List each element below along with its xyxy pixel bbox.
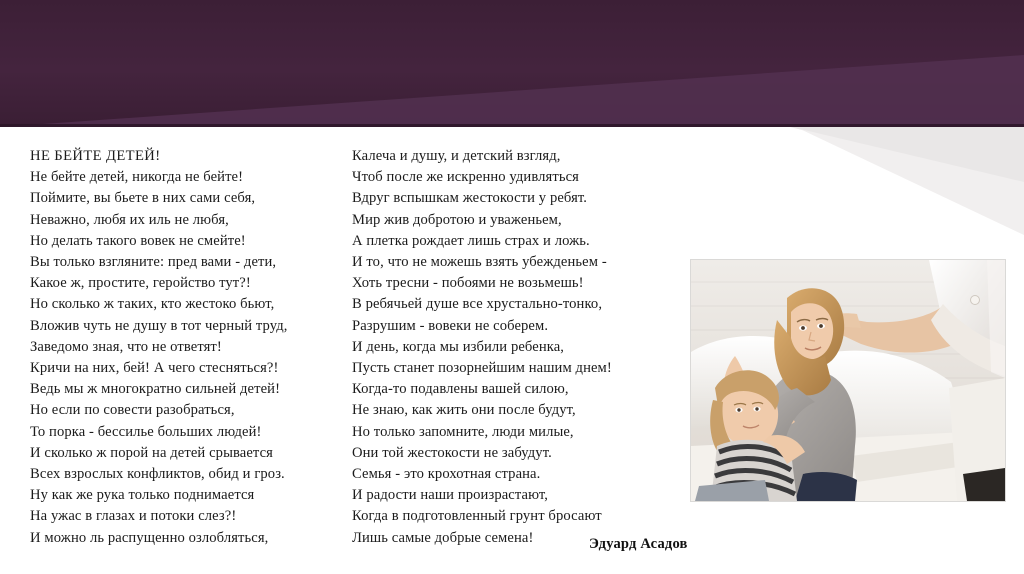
poem-line: Не бейте детей, никогда не бейте! [30, 167, 288, 188]
poem-line: Заведомо зная, что не ответят! [30, 337, 288, 358]
poem-line: То порка - бессилье больших людей! [30, 422, 288, 443]
family-photo-illustration [691, 260, 1005, 501]
slide-canvas: НЕ БЕЙТЕ ДЕТЕЙ!Не бейте детей, никогда н… [0, 0, 1024, 574]
poem-line: Пусть станет позорнейшим нашим днем! [352, 358, 612, 379]
poem-line: Какое ж, простите, геройство тут?! [30, 273, 288, 294]
poem-line: Ну как же рука только поднимается [30, 485, 288, 506]
poem-line: Вложив чуть не душу в тот черный труд, [30, 316, 288, 337]
header-bottom-edge [0, 124, 1024, 127]
poem-line: НЕ БЕЙТЕ ДЕТЕЙ! [30, 146, 288, 167]
poem-line: Но сколько ж таких, кто жестоко бьют, [30, 294, 288, 315]
poem-line: Но только запомните, люди милые, [352, 422, 612, 443]
poem-line: Но если по совести разобраться, [30, 400, 288, 421]
poem-line: Когда-то подавлены вашей силою, [352, 379, 612, 400]
poem-line: Лишь самые добрые семена! [352, 528, 612, 549]
poem-line: На ужас в глазах и потоки слез?! [30, 506, 288, 527]
poem-line: И сколько ж порой на детей срывается [30, 443, 288, 464]
poem-line: Ведь мы ж многократно сильней детей! [30, 379, 288, 400]
poem-line: Хоть тресни - побоями не возьмешь! [352, 273, 612, 294]
poem-line: Поймите, вы бьете в них сами себя, [30, 188, 288, 209]
poem-line: Семья - это крохотная страна. [352, 464, 612, 485]
poem-line: Разрушим - вовеки не соберем. [352, 316, 612, 337]
poem-line: А плетка рождает лишь страх и ложь. [352, 231, 612, 252]
poem-line: И то, что не можешь взять убежденьем - [352, 252, 612, 273]
poem-line: Вдруг вспышкам жестокости у ребят. [352, 188, 612, 209]
poem-line: И радости наши произрастают, [352, 485, 612, 506]
poem-line: Вы только взгляните: пред вами - дети, [30, 252, 288, 273]
poem-line: Они той жестокости не забудут. [352, 443, 612, 464]
poem-line: Когда в подготовленный грунт бросают [352, 506, 612, 527]
poem-column-right: Калеча и душу, и детский взгляд,Чтоб пос… [352, 146, 612, 549]
poem-line: Чтоб после же искренно удивляться [352, 167, 612, 188]
poem-line: Всех взрослых конфликтов, обид и гроз. [30, 464, 288, 485]
poem-line: Неважно, любя их иль не любя, [30, 210, 288, 231]
poem-line: И можно ль распущенно озлобляться, [30, 528, 288, 549]
poem-column-left: НЕ БЕЙТЕ ДЕТЕЙ!Не бейте детей, никогда н… [30, 146, 288, 549]
poem-author: Эдуард Асадов [589, 536, 688, 553]
poem-line: Кричи на них, бей! А чего стесняться?! [30, 358, 288, 379]
poem-line: Мир жив добротою и уваженьем, [352, 210, 612, 231]
poem-line: Калеча и душу, и детский взгляд, [352, 146, 612, 167]
poem-line: В ребячьей душе все хрустально-тонко, [352, 294, 612, 315]
poem-line: Не знаю, как жить они после будут, [352, 400, 612, 421]
family-photo [691, 260, 1005, 501]
poem-line: И день, когда мы избили ребенка, [352, 337, 612, 358]
poem-line: Но делать такого вовек не смейте! [30, 231, 288, 252]
